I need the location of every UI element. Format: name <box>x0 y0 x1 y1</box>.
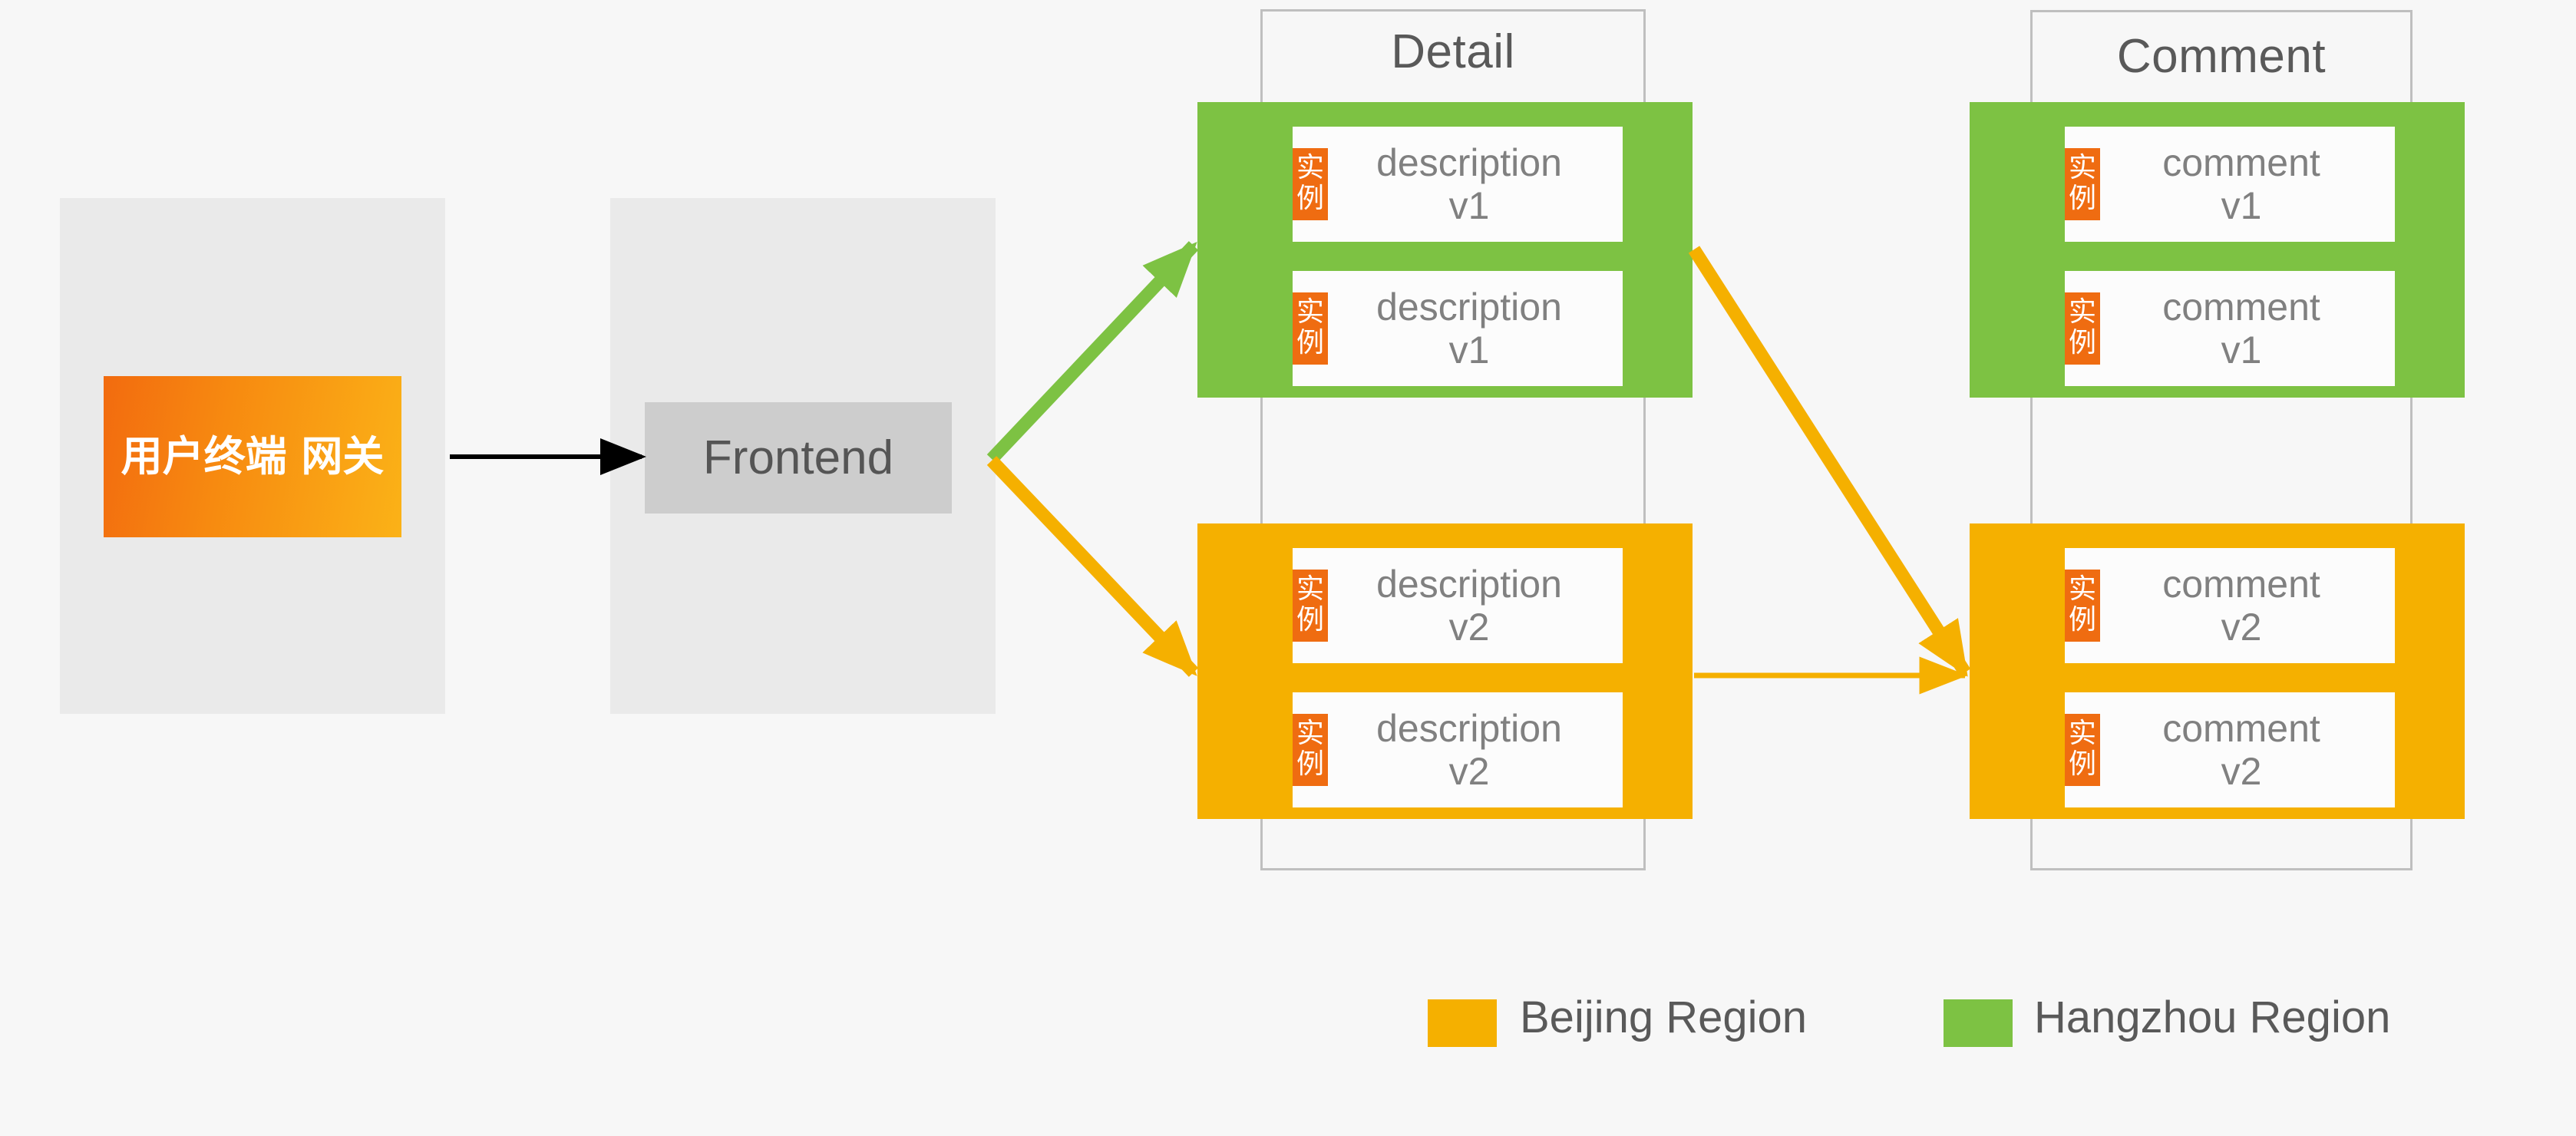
comment-column-title: Comment <box>2030 29 2413 84</box>
instance-card-text-line2: v1 <box>1328 184 1610 227</box>
connector-frontend-to-detail-beijing <box>992 461 1194 672</box>
badge-char-1: 实 <box>1293 153 1328 183</box>
instance-card-text: comment v2 <box>2100 707 2395 793</box>
badge-char-1: 实 <box>2065 153 2100 183</box>
connector-frontend-to-detail-hangzhou <box>992 246 1194 459</box>
instance-badge-icon: 实 例 <box>2065 292 2100 365</box>
badge-char-1: 实 <box>1293 718 1328 749</box>
instance-badge-icon: 实 例 <box>1293 570 1328 642</box>
legend-label-beijing: Beijing Region <box>1520 992 1807 1043</box>
gateway-label: 用户终端 网关 <box>121 432 385 481</box>
instance-badge-icon: 实 例 <box>1293 292 1328 365</box>
legend-swatch-hangzhou <box>1944 999 2013 1047</box>
instance-card-text-line1: comment <box>2100 707 2383 750</box>
instance-badge-icon: 实 例 <box>1293 148 1328 221</box>
connector-detail-hangzhou-to-comment-beijing <box>1694 249 1965 672</box>
comment-hangzhou-card-1[interactable]: 实 例 comment v1 <box>2065 127 2395 242</box>
instance-card-text-line2: v2 <box>1328 750 1610 793</box>
instance-card-text-line2: v2 <box>2100 606 2383 649</box>
badge-char-1: 实 <box>1293 297 1328 328</box>
instance-card-text: comment v2 <box>2100 563 2395 649</box>
legend: Beijing Region Hangzhou Region <box>1428 992 2502 1061</box>
legend-swatch-beijing <box>1428 999 1497 1047</box>
badge-char-2: 例 <box>2065 749 2100 780</box>
instance-card-text-line1: comment <box>2100 563 2383 606</box>
comment-beijing-card-2[interactable]: 实 例 comment v2 <box>2065 692 2395 807</box>
badge-char-1: 实 <box>1293 574 1328 605</box>
instance-card-text-line2: v2 <box>2100 750 2383 793</box>
frontend-label: Frontend <box>703 431 893 485</box>
badge-char-1: 实 <box>2065 574 2100 605</box>
detail-column-title: Detail <box>1260 25 1646 79</box>
badge-char-2: 例 <box>2065 328 2100 358</box>
badge-char-2: 例 <box>2065 605 2100 636</box>
detail-hangzhou-card-2[interactable]: 实 例 description v1 <box>1293 271 1623 386</box>
instance-card-text-line1: description <box>1328 707 1610 750</box>
badge-char-2: 例 <box>1293 183 1328 214</box>
diagram-canvas: 用户终端 网关 Frontend Detail 实 例 description … <box>0 0 2576 1136</box>
gateway-label-line1: 用户终端 <box>121 432 287 480</box>
instance-card-text-line1: comment <box>2100 141 2383 184</box>
instance-card-text: description v2 <box>1328 707 1623 793</box>
detail-hangzhou-card-1[interactable]: 实 例 description v1 <box>1293 127 1623 242</box>
legend-label-hangzhou: Hangzhou Region <box>2034 992 2390 1043</box>
instance-card-text: comment v1 <box>2100 141 2395 227</box>
detail-beijing-card-1[interactable]: 实 例 description v2 <box>1293 548 1623 663</box>
instance-badge-icon: 实 例 <box>2065 148 2100 221</box>
badge-char-2: 例 <box>1293 328 1328 358</box>
badge-char-2: 例 <box>2065 183 2100 214</box>
instance-card-text-line2: v1 <box>1328 329 1610 372</box>
instance-badge-icon: 实 例 <box>2065 714 2100 787</box>
detail-beijing-card-2[interactable]: 实 例 description v2 <box>1293 692 1623 807</box>
instance-badge-icon: 实 例 <box>1293 714 1328 787</box>
instance-card-text-line1: description <box>1328 563 1610 606</box>
badge-char-2: 例 <box>1293 749 1328 780</box>
badge-char-1: 实 <box>2065 718 2100 749</box>
instance-card-text-line2: v1 <box>2100 329 2383 372</box>
instance-card-text: description v1 <box>1328 286 1623 372</box>
instance-card-text-line2: v1 <box>2100 184 2383 227</box>
user-terminal-gateway-box[interactable]: 用户终端 网关 <box>104 376 401 537</box>
instance-badge-icon: 实 例 <box>2065 570 2100 642</box>
instance-card-text: comment v1 <box>2100 286 2395 372</box>
instance-card-text-line1: description <box>1328 141 1610 184</box>
instance-card-text: description v2 <box>1328 563 1623 649</box>
instance-card-text-line1: description <box>1328 286 1610 329</box>
gateway-label-line2: 网关 <box>301 432 384 480</box>
badge-char-2: 例 <box>1293 605 1328 636</box>
instance-card-text-line1: comment <box>2100 286 2383 329</box>
frontend-box[interactable]: Frontend <box>645 402 952 514</box>
badge-char-1: 实 <box>2065 297 2100 328</box>
comment-hangzhou-card-2[interactable]: 实 例 comment v1 <box>2065 271 2395 386</box>
comment-beijing-card-1[interactable]: 实 例 comment v2 <box>2065 548 2395 663</box>
instance-card-text: description v1 <box>1328 141 1623 227</box>
instance-card-text-line2: v2 <box>1328 606 1610 649</box>
